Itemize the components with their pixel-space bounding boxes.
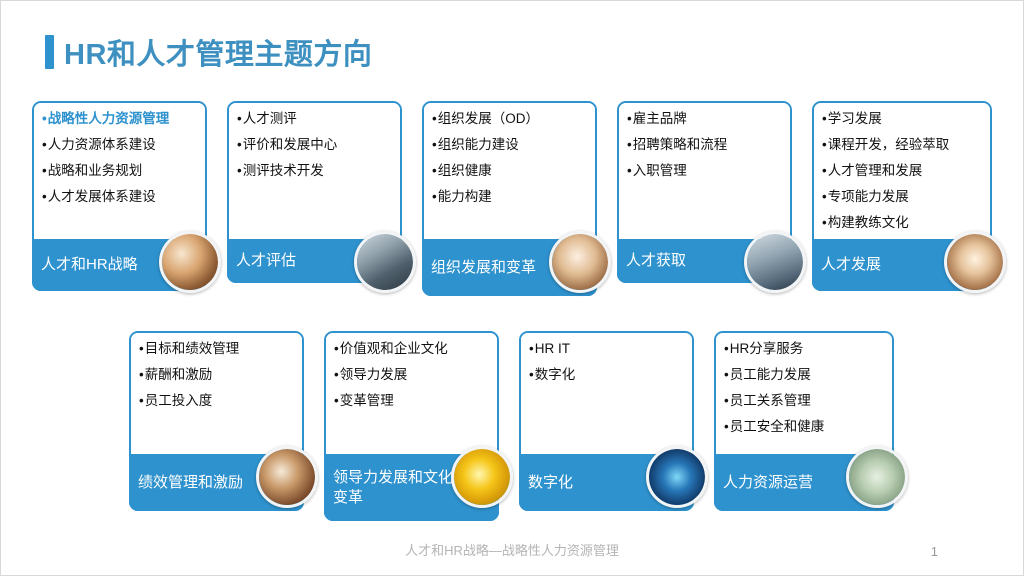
- woman-photo: [256, 446, 318, 508]
- card-bullet: •人才测评: [237, 111, 393, 128]
- bullet-dot-icon: •: [627, 111, 632, 127]
- bullet-dot-icon: •: [822, 189, 827, 205]
- bullet-dot-icon: •: [334, 367, 339, 383]
- card-bullet: •组织发展（OD）: [432, 111, 588, 128]
- card-bullet-label: 能力构建: [438, 189, 492, 206]
- card-bullet: •HR分享服务: [724, 341, 885, 358]
- card-bullet-label: 构建教练文化: [828, 215, 909, 232]
- photo-image: [357, 234, 413, 290]
- card-bullet-label: 入职管理: [633, 163, 687, 180]
- card-bullet: •课程开发，经验萃取: [822, 137, 983, 154]
- card-bullet: •价值观和企业文化: [334, 341, 490, 358]
- card-bullet-label: 员工安全和健康: [730, 419, 825, 436]
- bullet-dot-icon: •: [822, 163, 827, 179]
- card-bullet-label: 战略性人力资源管理: [48, 111, 170, 128]
- card-bullet-list: •价值观和企业文化•领导力发展•变革管理: [326, 333, 497, 458]
- card-footer-label: 组织发展和变革: [431, 258, 536, 278]
- card-footer-label: 人才发展: [821, 255, 881, 275]
- bullet-dot-icon: •: [724, 341, 729, 357]
- card-bullet: •员工关系管理: [724, 393, 885, 410]
- card-bullet-label: 目标和绩效管理: [145, 341, 240, 358]
- network-photo: [646, 446, 708, 508]
- bullet-dot-icon: •: [334, 341, 339, 357]
- office-photo: [744, 231, 806, 293]
- card-bullet-label: 员工能力发展: [730, 367, 811, 384]
- bullet-dot-icon: •: [627, 137, 632, 153]
- card-bullet: •战略和业务规划: [42, 163, 198, 180]
- card-bullet: •雇主品牌: [627, 111, 783, 128]
- card-bullet-label: 组织能力建设: [438, 137, 519, 154]
- bullet-dot-icon: •: [432, 137, 437, 153]
- bullet-dot-icon: •: [42, 111, 47, 127]
- card-bullet-label: 薪酬和激励: [145, 367, 213, 384]
- card-footer-label: 数字化: [528, 473, 573, 493]
- card-bullet-label: 人才发展体系建设: [48, 189, 156, 206]
- card-bullet: •专项能力发展: [822, 189, 983, 206]
- bullet-dot-icon: •: [42, 189, 47, 205]
- card-bullet-list: •HR IT•数字化: [521, 333, 692, 458]
- title-accent-bar: [45, 35, 54, 69]
- bullet-dot-icon: •: [627, 163, 632, 179]
- bullet-dot-icon: •: [724, 367, 729, 383]
- card-footer-label: 人才获取: [626, 251, 686, 271]
- bullet-dot-icon: •: [237, 111, 242, 127]
- bullet-dot-icon: •: [432, 111, 437, 127]
- card-bullet-label: 人力资源体系建设: [48, 137, 156, 154]
- card-bullet-list: •目标和绩效管理•薪酬和激励•员工投入度: [131, 333, 302, 458]
- bullet-dot-icon: •: [139, 367, 144, 383]
- card-bullet-list: •雇主品牌•招聘策略和流程•入职管理: [619, 103, 790, 243]
- sunflower-photo: [451, 446, 513, 508]
- card-bullet-label: 组织健康: [438, 163, 492, 180]
- card-bullet-label: 战略和业务规划: [48, 163, 143, 180]
- card-bullet-list: •组织发展（OD）•组织能力建设•组织健康•能力构建: [424, 103, 595, 243]
- card-bullet: •薪酬和激励: [139, 367, 295, 384]
- bullet-dot-icon: •: [724, 419, 729, 435]
- card-footer-label: 绩效管理和激励: [138, 473, 243, 493]
- bullet-dot-icon: •: [724, 393, 729, 409]
- photo-image: [552, 234, 608, 290]
- topic-card[interactable]: •组织发展（OD）•组织能力建设•组织健康•能力构建组织发展和变革: [422, 101, 597, 296]
- photo-image: [747, 234, 803, 290]
- card-bullet: •员工能力发展: [724, 367, 885, 384]
- card-bullet: •员工安全和健康: [724, 419, 885, 436]
- topic-card[interactable]: •价值观和企业文化•领导力发展•变革管理领导力发展和文化变革: [324, 331, 499, 521]
- card-bullet-label: 学习发展: [828, 111, 882, 128]
- card-bullet-label: 变革管理: [340, 393, 394, 410]
- card-footer-label: 领导力发展和文化变革: [333, 468, 453, 507]
- card-bullet-label: 数字化: [535, 367, 576, 384]
- card-bullet: •目标和绩效管理: [139, 341, 295, 358]
- card-bullet: •招聘策略和流程: [627, 137, 783, 154]
- card-bullet: •评价和发展中心: [237, 137, 393, 154]
- card-bullet: •人力资源体系建设: [42, 137, 198, 154]
- card-bullet-label: 员工投入度: [145, 393, 213, 410]
- card-bullet: •学习发展: [822, 111, 983, 128]
- topic-card[interactable]: •战略性人力资源管理•人力资源体系建设•战略和业务规划•人才发展体系建设人才和H…: [32, 101, 207, 291]
- desk-photo: [354, 231, 416, 293]
- card-bullet-label: 专项能力发展: [828, 189, 909, 206]
- card-bullet: •组织能力建设: [432, 137, 588, 154]
- bullet-dot-icon: •: [42, 163, 47, 179]
- topic-card[interactable]: •HR IT•数字化数字化: [519, 331, 694, 511]
- family-photo: [159, 231, 221, 293]
- photo-image: [259, 449, 315, 505]
- page-number: 1: [931, 544, 938, 559]
- card-bullet: •测评技术开发: [237, 163, 393, 180]
- bullet-dot-icon: •: [529, 367, 534, 383]
- card-bullet-label: 领导力发展: [340, 367, 408, 384]
- card-bullet-label: 员工关系管理: [730, 393, 811, 410]
- topic-card[interactable]: •人才测评•评价和发展中心•测评技术开发人才评估: [227, 101, 402, 283]
- card-bullet-label: 人才测评: [243, 111, 297, 128]
- bullet-dot-icon: •: [822, 215, 827, 231]
- card-footer-label: 人才评估: [236, 251, 296, 271]
- card-bullet: •HR IT: [529, 341, 685, 358]
- card-bullet-label: 课程开发，经验萃取: [828, 137, 950, 154]
- card-bullet-label: 组织发展（OD）: [438, 111, 539, 128]
- bullet-dot-icon: •: [334, 393, 339, 409]
- bullet-dot-icon: •: [42, 137, 47, 153]
- card-bullet-label: 价值观和企业文化: [340, 341, 448, 358]
- bullet-dot-icon: •: [237, 163, 242, 179]
- photo-image: [947, 234, 1003, 290]
- card-bullet-list: •人才测评•评价和发展中心•测评技术开发: [229, 103, 400, 243]
- bullet-dot-icon: •: [237, 137, 242, 153]
- card-bullet: •构建教练文化: [822, 215, 983, 232]
- team-photo: [944, 231, 1006, 293]
- bullet-dot-icon: •: [432, 163, 437, 179]
- card-bullet: •变革管理: [334, 393, 490, 410]
- photo-image: [162, 234, 218, 290]
- topic-card[interactable]: •学习发展•课程开发，经验萃取•人才管理和发展•专项能力发展•构建教练文化人才发…: [812, 101, 992, 291]
- card-bullet-label: 招聘策略和流程: [633, 137, 728, 154]
- card-bullet: •人才发展体系建设: [42, 189, 198, 206]
- bullet-dot-icon: •: [432, 189, 437, 205]
- card-bullet: •人才管理和发展: [822, 163, 983, 180]
- photo-image: [649, 449, 705, 505]
- card-bullet-label: HR分享服务: [730, 341, 804, 358]
- topic-card[interactable]: •HR分享服务•员工能力发展•员工关系管理•员工安全和健康人力资源运营: [714, 331, 894, 511]
- photo-image: [849, 449, 905, 505]
- card-bullet-label: HR IT: [535, 341, 570, 358]
- card-bullet: •员工投入度: [139, 393, 295, 410]
- card-bullet: •数字化: [529, 367, 685, 384]
- people-photo: [846, 446, 908, 508]
- bullet-dot-icon: •: [529, 341, 534, 357]
- card-bullet-label: 评价和发展中心: [243, 137, 338, 154]
- slide-canvas: HR和人才管理主题方向 •战略性人力资源管理•人力资源体系建设•战略和业务规划•…: [0, 0, 1024, 576]
- bullet-dot-icon: •: [139, 393, 144, 409]
- card-bullet-label: 雇主品牌: [633, 111, 687, 128]
- footer-note: 人才和HR战略—战略性人力资源管理: [1, 540, 1023, 559]
- card-bullet: •能力构建: [432, 189, 588, 206]
- page-title: HR和人才管理主题方向: [45, 31, 372, 73]
- bullet-dot-icon: •: [822, 137, 827, 153]
- card-bullet-label: 测评技术开发: [243, 163, 324, 180]
- hands-photo: [549, 231, 611, 293]
- card-bullet-list: •学习发展•课程开发，经验萃取•人才管理和发展•专项能力发展•构建教练文化: [814, 103, 990, 243]
- topic-card[interactable]: •目标和绩效管理•薪酬和激励•员工投入度绩效管理和激励: [129, 331, 304, 511]
- card-bullet-list: •战略性人力资源管理•人力资源体系建设•战略和业务规划•人才发展体系建设: [34, 103, 205, 243]
- photo-image: [454, 449, 510, 505]
- card-bullet-list: •HR分享服务•员工能力发展•员工关系管理•员工安全和健康: [716, 333, 892, 458]
- card-bullet: •入职管理: [627, 163, 783, 180]
- card-bullet: •领导力发展: [334, 367, 490, 384]
- card-bullet-label: 人才管理和发展: [828, 163, 923, 180]
- card-bullet: •战略性人力资源管理: [42, 111, 198, 128]
- card-footer-label: 人才和HR战略: [41, 255, 138, 275]
- bullet-dot-icon: •: [822, 111, 827, 127]
- topic-card[interactable]: •雇主品牌•招聘策略和流程•入职管理人才获取: [617, 101, 792, 283]
- title-text: HR和人才管理主题方向: [64, 31, 372, 73]
- card-bullet: •组织健康: [432, 163, 588, 180]
- card-footer-label: 人力资源运营: [723, 473, 813, 493]
- bullet-dot-icon: •: [139, 341, 144, 357]
